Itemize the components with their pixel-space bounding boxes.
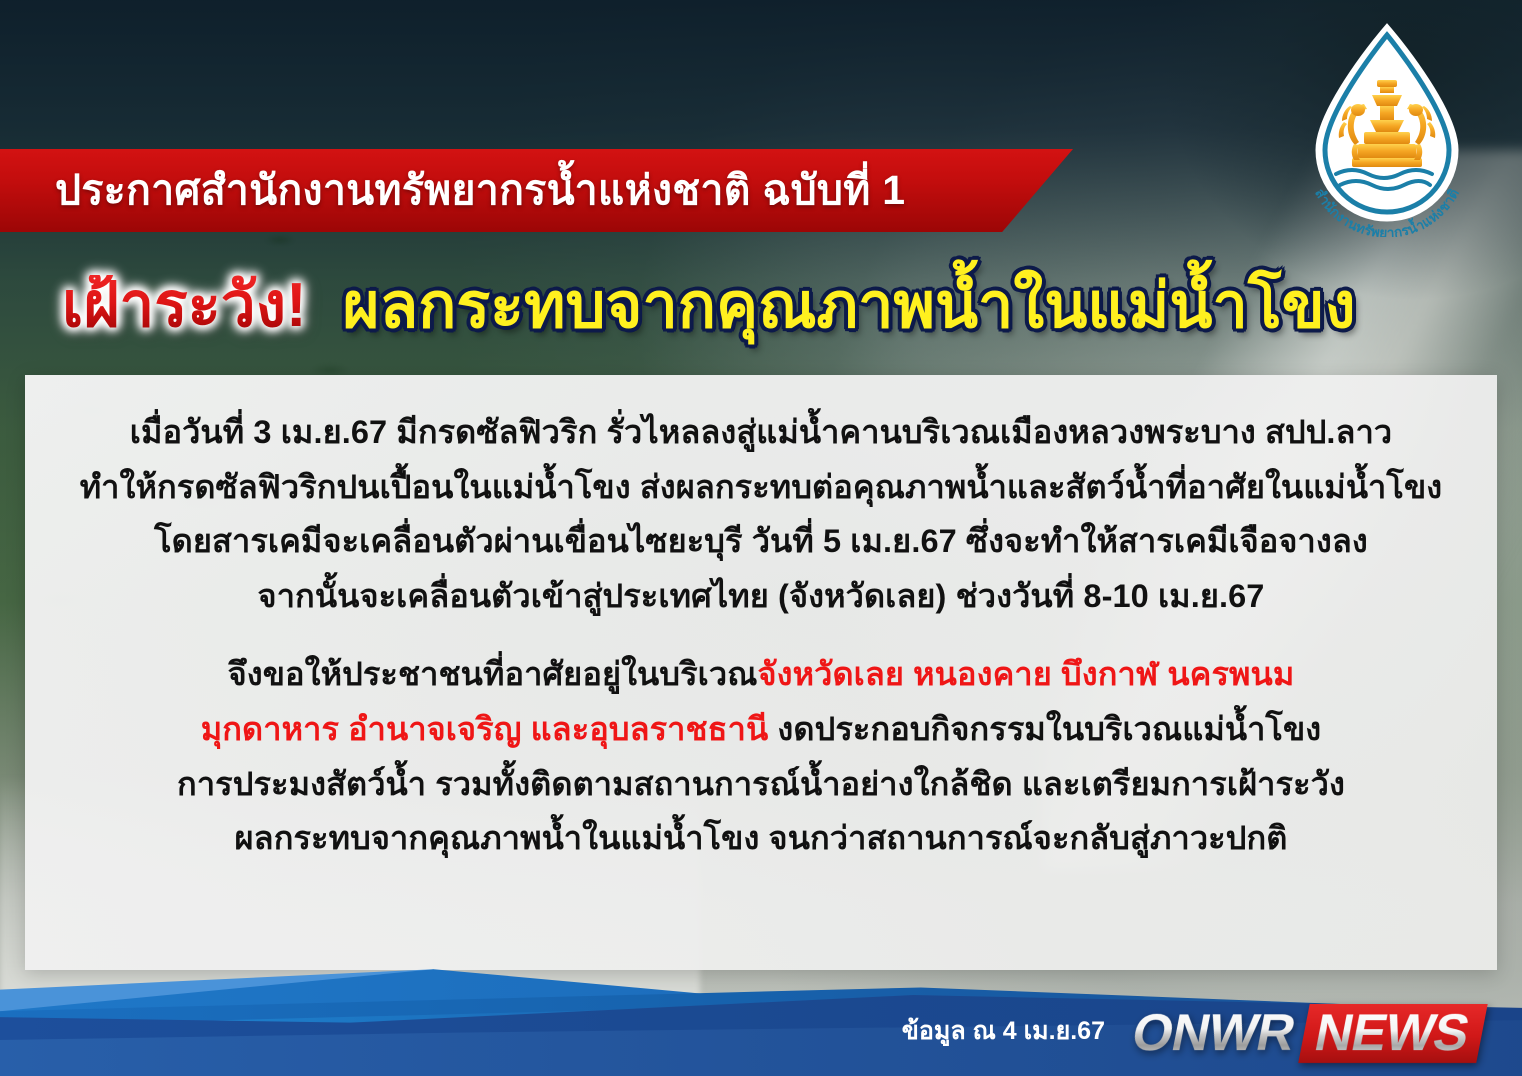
content-panel: เมื่อวันที่ 3 เม.ย.67 มีกรดซัลฟิวริก รั่…: [25, 375, 1497, 970]
brand-onwr-text: ONWR: [1124, 1004, 1310, 1063]
water-drop-emblem-icon: สำนักงานทรัพยากรน้ำแห่งชาติ: [1292, 22, 1482, 237]
paragraph-line: เมื่อวันที่ 3 เม.ย.67 มีกรดซัลฟิวริก รั่…: [59, 405, 1463, 460]
paragraph-line: จากนั้นจะเคลื่อนตัวเข้าสู่ประเทศไทย (จัง…: [59, 569, 1463, 624]
paragraph-line: จึงขอให้ประชาชนที่อาศัยอยู่ในบริเวณจังหว…: [59, 647, 1463, 702]
onwr-news-logo: ONWR NEWS: [1124, 1004, 1488, 1063]
announcement-banner: ประกาศสำนักงานทรัพยากรน้ำแห่งชาติ ฉบับที…: [0, 149, 1073, 232]
alert-label: เฝ้าระวัง!: [62, 275, 307, 337]
brand-news-box: NEWS: [1298, 1004, 1487, 1063]
province-list-line-2: มุกดาหาร อำนาจเจริญ และอุบลราชธานี: [201, 711, 769, 747]
headline-title: ผลกระทบจากคุณภาพน้ำในแม่น้ำโขง: [343, 275, 1356, 338]
paragraph-situation: เมื่อวันที่ 3 เม.ย.67 มีกรดซัลฟิวริก รั่…: [59, 405, 1463, 623]
paragraph-line: โดยสารเคมีจะเคลื่อนตัวผ่านเขื่อนไซยะบุรี…: [59, 514, 1463, 569]
province-list-line-1: จังหวัดเลย หนองคาย บึงกาฬ นครพนม: [757, 656, 1294, 692]
advisory-lead-text: จึงขอให้ประชาชนที่อาศัยอยู่ในบริเวณ: [228, 656, 758, 692]
paragraph-line: การประมงสัตว์น้ำ รวมทั้งติดตามสถานการณ์น…: [59, 757, 1463, 812]
advisory-tail-text: งดประกอบกิจกรรมในบริเวณแม่น้ำโขง: [768, 711, 1321, 747]
data-date-label: ข้อมูล ณ 4 เม.ย.67: [902, 1011, 1105, 1051]
announcement-title: ประกาศสำนักงานทรัพยากรน้ำแห่งชาติ ฉบับที…: [0, 170, 905, 211]
infographic-poster: สำนักงานทรัพยากรน้ำแห่งชาติ ประกาศสำนักง…: [0, 0, 1522, 1076]
paragraph-line: ทำให้กรดซัลฟิวริกปนเปื้อนในแม่น้ำโขง ส่ง…: [59, 460, 1463, 515]
paragraph-line: ผลกระทบจากคุณภาพน้ำในแม่น้ำโขง จนกว่าสถา…: [59, 811, 1463, 866]
paragraph-advisory: จึงขอให้ประชาชนที่อาศัยอยู่ในบริเวณจังหว…: [59, 647, 1463, 865]
brand-news-text: NEWS: [1311, 1006, 1474, 1061]
onwr-logo: สำนักงานทรัพยากรน้ำแห่งชาติ: [1292, 22, 1482, 237]
paragraph-line: มุกดาหาร อำนาจเจริญ และอุบลราชธานี งดประ…: [59, 702, 1463, 757]
headline-row: เฝ้าระวัง! ผลกระทบจากคุณภาพน้ำในแม่น้ำโข…: [0, 258, 1522, 354]
